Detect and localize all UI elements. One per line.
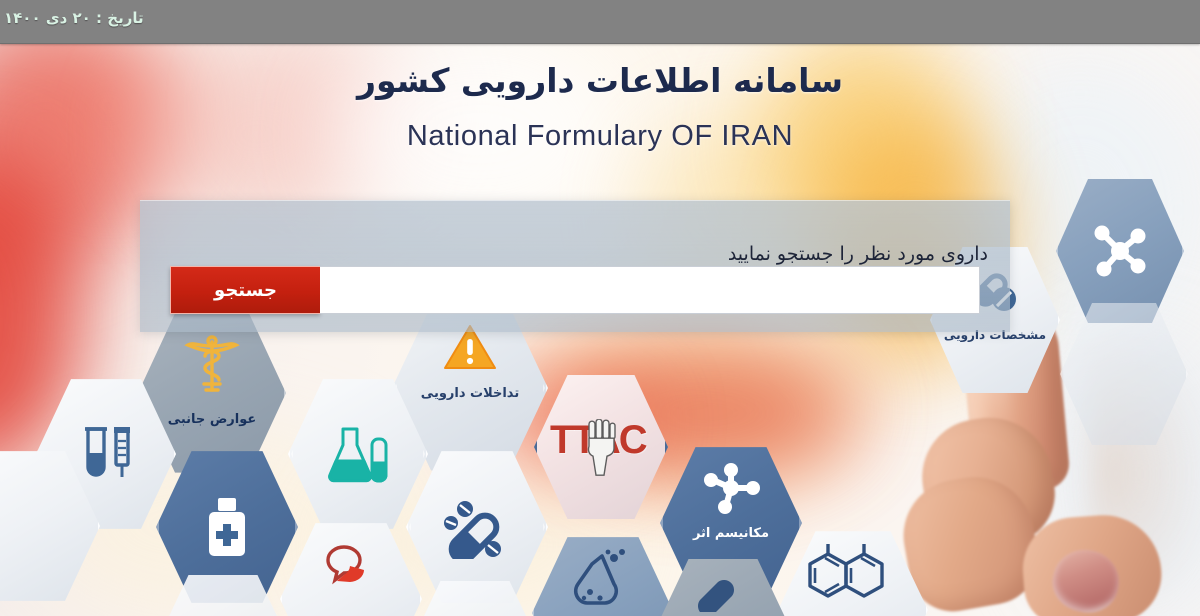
hex-decorative-bottom-mid <box>406 578 544 616</box>
flask-bubbles-icon <box>568 548 638 606</box>
benzene-rings-icon <box>806 542 900 606</box>
search-hint-label: داروی مورد نظر را جستجو نمایید <box>728 243 988 265</box>
hex-label-drug-interactions: تداخلات دارویی <box>421 386 519 402</box>
search-panel: داروی مورد نظر را جستجو نمایید جستجو <box>140 200 1010 332</box>
flask-tube-icon <box>325 423 391 485</box>
search-row: جستجو <box>170 266 980 314</box>
medicine-bottle-icon <box>200 496 254 558</box>
caduceus-icon <box>183 332 241 398</box>
hex-label-side-effects: عوارض جانبی <box>168 412 257 428</box>
hex-flask-bubbles[interactable] <box>532 534 674 616</box>
hex-ttac[interactable]: TTAC <box>534 372 668 522</box>
hex-decorative-right <box>1060 300 1188 448</box>
hex-benzene-rings[interactable] <box>778 528 928 616</box>
testtube-syringe-icon <box>74 423 138 485</box>
hex-label-mechanism: مکانیسم اثر <box>693 526 769 542</box>
page-title-en: National Formulary OF IRAN <box>0 120 1200 153</box>
current-date-label: تاریخ : ۲۰ دی ۱۴۰۰ <box>4 9 144 27</box>
capsule-icon <box>694 572 752 612</box>
hex-chat-bubble[interactable] <box>280 520 422 616</box>
page-title-fa: سامانه اطلاعات دارویی کشور <box>0 56 1200 106</box>
page-title-block: سامانه اطلاعات دارویی کشور National Form… <box>0 56 1200 153</box>
chat-bubble-icon <box>320 542 382 594</box>
page-root: تاریخ : ۲۰ دی ۱۴۰۰ سامانه اطلاعات دارویی… <box>0 0 1200 616</box>
molecule-cross-icon <box>1089 220 1151 282</box>
raised-fist-icon <box>584 419 618 477</box>
search-input[interactable] <box>320 266 980 314</box>
molecule-node-icon <box>700 462 762 514</box>
capsule-pills-icon <box>441 495 513 559</box>
top-bar: تاریخ : ۲۰ دی ۱۴۰۰ <box>0 0 1200 44</box>
search-button[interactable]: جستجو <box>170 266 320 314</box>
